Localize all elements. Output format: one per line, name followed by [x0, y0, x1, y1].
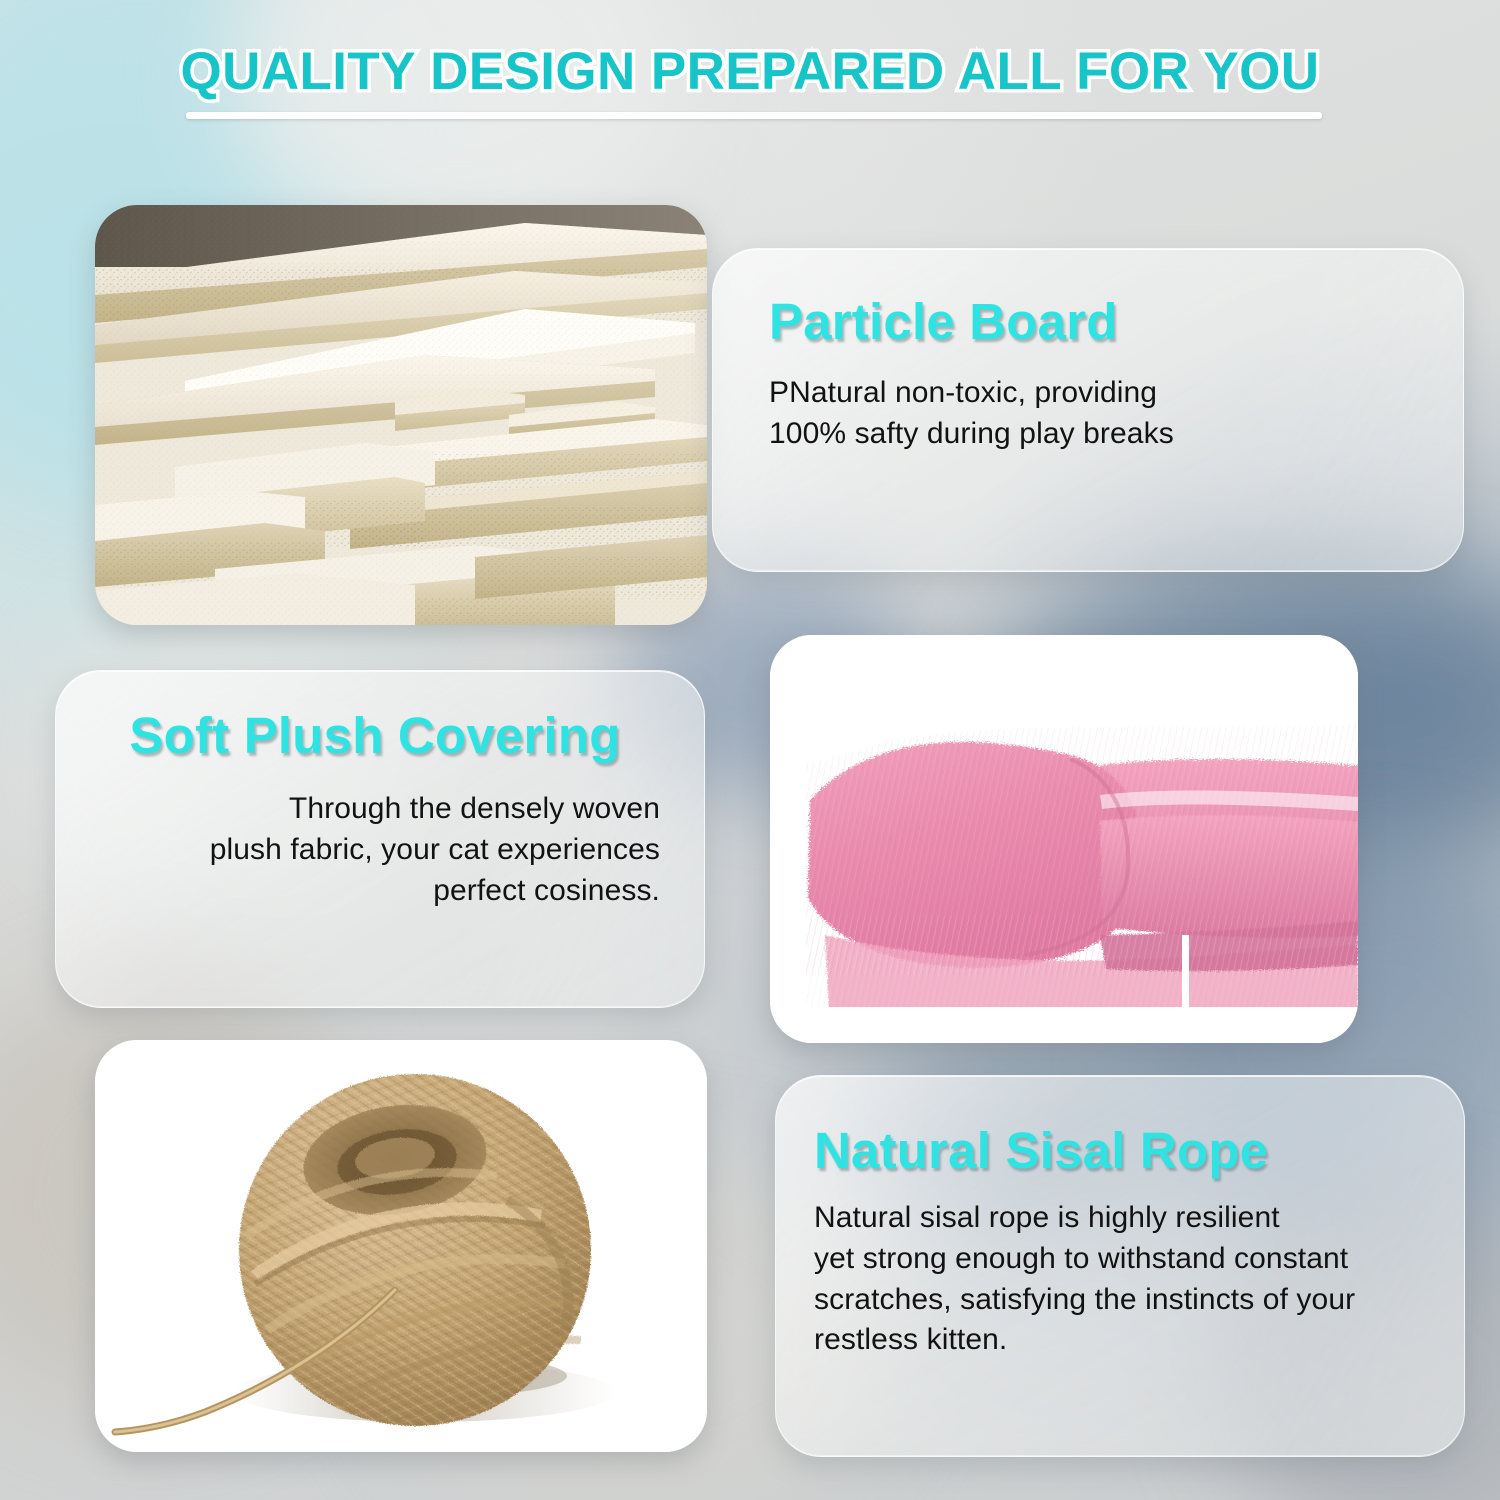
- feature-card-content: Soft Plush Covering Through the densely …: [56, 671, 704, 911]
- feature-body-particle-board: PNatural non-toxic, providing 100% safty…: [769, 373, 1429, 455]
- feature-heading-natural-sisal-rope: Natural Sisal Rope: [814, 1124, 1430, 1178]
- feature-heading-particle-board: Particle Board: [769, 295, 1429, 349]
- feature-card-content: Natural Sisal Rope Natural sisal rope is…: [776, 1076, 1464, 1361]
- feature-card-natural-sisal-rope: Natural Sisal Rope Natural sisal rope is…: [775, 1075, 1465, 1457]
- page-title: QUALITY DESIGN PREPARED ALL FOR YOU: [181, 44, 1320, 99]
- sisal-rope-image: [95, 1040, 707, 1452]
- title-underline-rule: [186, 112, 1322, 119]
- sisal-rope-photo: [95, 1040, 707, 1452]
- pink-plush-image: [770, 635, 1358, 1043]
- particle-board-photo: [95, 205, 707, 625]
- feature-card-particle-board: Particle Board PNatural non-toxic, provi…: [712, 248, 1464, 572]
- feature-card-content: Particle Board PNatural non-toxic, provi…: [713, 249, 1463, 455]
- feature-body-line: restless kitten.: [814, 1320, 1430, 1361]
- feature-body-natural-sisal-rope: Natural sisal rope is highly resilient y…: [814, 1198, 1430, 1361]
- feature-body-soft-plush-covering: Through the densely woven plush fabric, …: [90, 789, 660, 911]
- feature-body-line: Through the densely woven: [90, 789, 660, 830]
- feature-body-line: yet strong enough to withstand constant: [814, 1239, 1430, 1280]
- feature-body-line: PNatural non-toxic, providing: [769, 373, 1429, 414]
- particle-board-image: [95, 205, 707, 625]
- feature-body-line: 100% safty during play breaks: [769, 414, 1429, 455]
- feature-card-soft-plush-covering: Soft Plush Covering Through the densely …: [55, 670, 705, 1008]
- page-title-wrap: QUALITY DESIGN PREPARED ALL FOR YOU: [0, 44, 1500, 99]
- plush-fabric-photo: [770, 635, 1358, 1043]
- feature-body-line: Natural sisal rope is highly resilient: [814, 1198, 1430, 1239]
- feature-body-line: perfect cosiness.: [90, 871, 660, 912]
- feature-body-line: scratches, satisfying the instincts of y…: [814, 1280, 1430, 1321]
- feature-heading-soft-plush-covering: Soft Plush Covering: [90, 709, 660, 763]
- infographic-stage: QUALITY DESIGN PREPARED ALL FOR YOU: [0, 0, 1500, 1500]
- feature-body-line: plush fabric, your cat experiences: [90, 830, 660, 871]
